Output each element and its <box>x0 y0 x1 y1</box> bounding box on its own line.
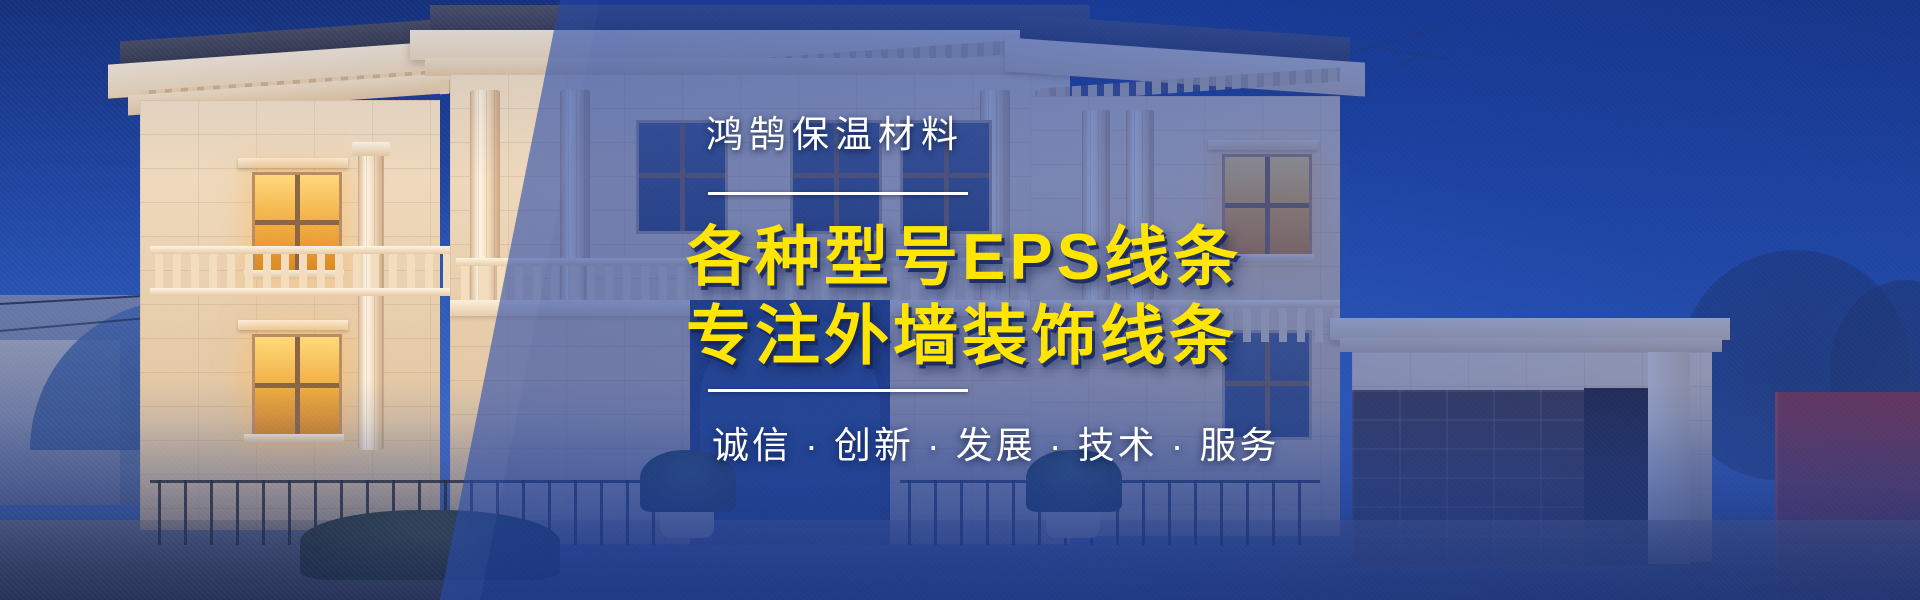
tagline: 诚信 · 创新 · 发展 · 技术 · 服务 <box>712 415 1280 469</box>
headline-line-2: 专注外墙装饰线条 <box>686 283 1238 377</box>
divider-top <box>708 192 968 195</box>
divider-bottom <box>708 389 968 392</box>
banner-copy: 鸿鹄保温材料 各种型号EPS线条 专注外墙装饰线条 诚信 · 创新 · 发展 ·… <box>0 0 1920 600</box>
hero-banner: 鸿鹄保温材料 各种型号EPS线条 专注外墙装饰线条 诚信 · 创新 · 发展 ·… <box>0 0 1920 600</box>
brand-name: 鸿鹄保温材料 <box>706 104 964 158</box>
